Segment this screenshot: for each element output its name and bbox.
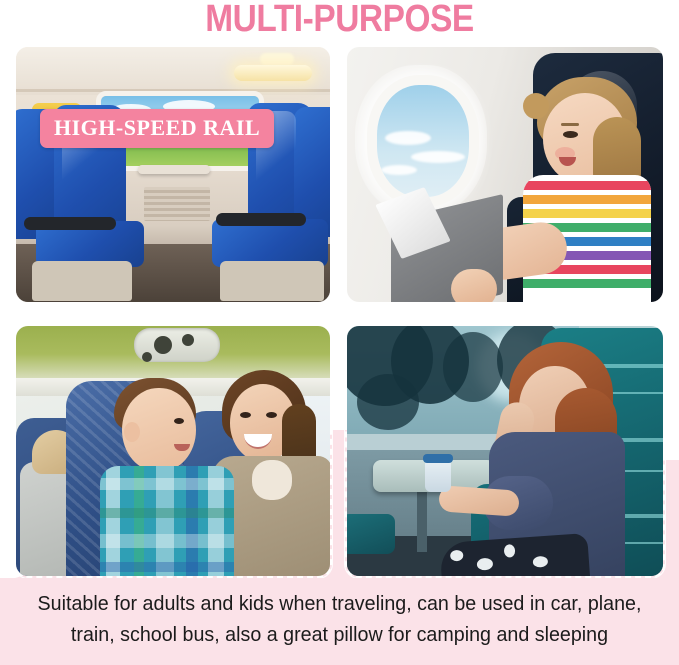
panel-bus: BUS bbox=[14, 324, 332, 578]
badge-high-speed-rail: HIGH-SPEED RAIL bbox=[40, 109, 274, 148]
caption-line-1: Suitable for adults and kids when travel… bbox=[21, 588, 657, 619]
photo-high-speed-rail bbox=[16, 47, 330, 302]
photo-train bbox=[347, 326, 663, 576]
photo-plane bbox=[347, 47, 663, 302]
caption-line-2: train, school bus, also a great pillow f… bbox=[21, 619, 657, 650]
paper-cup bbox=[425, 458, 451, 492]
panel-train: TRAIN bbox=[345, 324, 665, 578]
panel-high-speed-rail: HIGH-SPEED RAIL bbox=[14, 45, 332, 304]
airplane-window bbox=[377, 85, 469, 197]
plaid-shirt bbox=[100, 466, 234, 576]
panel-plane: PLANE bbox=[345, 45, 665, 304]
caption-text: Suitable for adults and kids when travel… bbox=[21, 588, 657, 650]
photo-bus bbox=[16, 326, 330, 576]
page-title: MULTI-PURPOSE bbox=[41, 0, 639, 41]
